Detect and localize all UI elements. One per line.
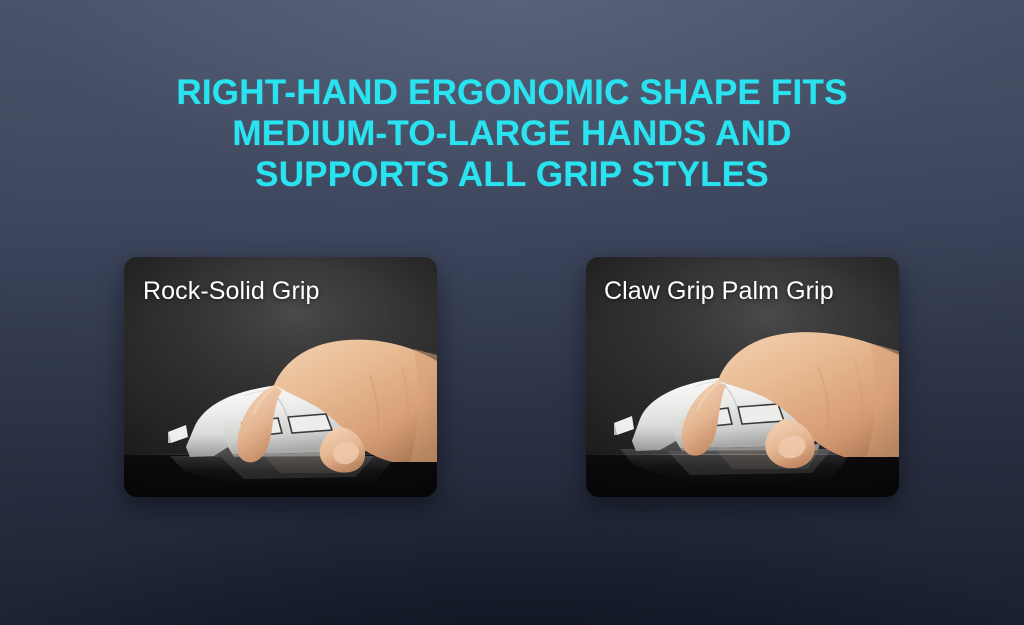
promo-slide: RIGHT-HAND ERGONOMIC SHAPE FITS MEDIUM-T… [0, 0, 1024, 625]
card-label-right: Claw Grip Palm Grip [604, 277, 834, 306]
headline-line-2: MEDIUM-TO-LARGE HANDS AND [0, 113, 1024, 154]
grip-card-rock-solid: Rock-Solid Grip [124, 257, 437, 497]
headline-line-1: RIGHT-HAND ERGONOMIC SHAPE FITS [0, 72, 1024, 113]
card-label-left: Rock-Solid Grip [143, 277, 320, 306]
headline-line-3: SUPPORTS ALL GRIP STYLES [0, 154, 1024, 195]
grip-card-claw-palm: Claw Grip Palm Grip [586, 257, 899, 497]
page-title: RIGHT-HAND ERGONOMIC SHAPE FITS MEDIUM-T… [0, 72, 1024, 195]
